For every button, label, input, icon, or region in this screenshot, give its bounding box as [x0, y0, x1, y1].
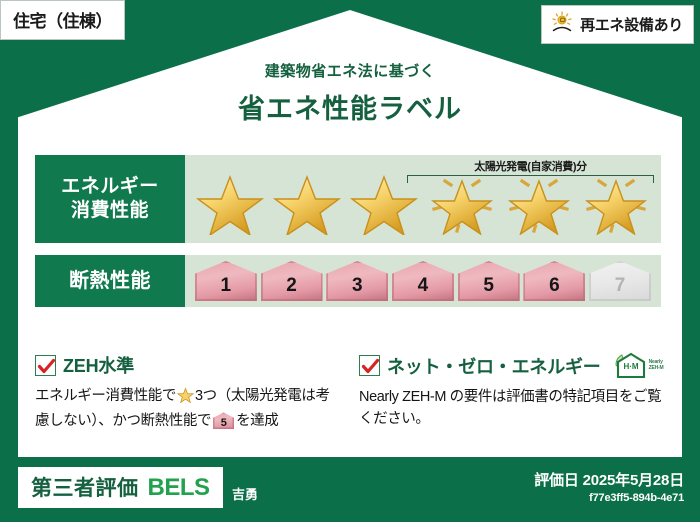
title-subtitle: 建築物省エネ法に基づく — [0, 60, 700, 81]
notes-section: ZEH水準 エネルギー消費性能で 3つ（太陽光発電は考慮しない）、かつ断熱性能で… — [35, 352, 665, 433]
zeh-note-title: ZEH水準 — [63, 352, 134, 378]
star-1 — [195, 169, 265, 235]
footer: 第三者評価 BELS 吉勇 評価日 2025年5月28日 f77e3ff5-89… — [0, 457, 700, 522]
insulation-level-2-num: 2 — [286, 276, 297, 301]
insulation-level-4-num: 4 — [418, 276, 429, 301]
energy-performance-label: 住宅（住棟） 再エネ設備あり 建築物省エネ法に基づく — [0, 0, 700, 522]
insulation-level-6: 6 — [523, 261, 585, 301]
zeh-checkbox-checked-icon — [35, 355, 56, 376]
renewable-badge-label: 再エネ設備あり — [580, 14, 683, 35]
insulation-level-7: 7 — [589, 261, 651, 301]
star-2 — [272, 169, 342, 235]
energy-label-line2: 消費性能 — [71, 199, 149, 223]
insulation-level-6-num: 6 — [549, 276, 560, 301]
bels-jp-label: 第三者評価 — [31, 472, 139, 502]
zeh-m-house-icon: H·M — [613, 352, 647, 379]
zeh-note-header: ZEH水準 — [35, 352, 341, 378]
energy-row-label: エネルギー 消費性能 — [35, 155, 185, 243]
zeh-note-body: エネルギー消費性能で 3つ（太陽光発電は考慮しない）、かつ断熱性能で 5を達成 — [35, 385, 341, 433]
zeh-m-logo-caption: Nearly ZEH-M — [649, 360, 664, 372]
net-zero-note: ネット・ゼロ・エネルギー H·M Nearly ZEH-M Nearly ZEH… — [359, 352, 665, 433]
page-title: 省エネ性能ラベル — [0, 87, 700, 126]
inline-house-level-num: 5 — [213, 418, 234, 429]
net-zero-note-body: Nearly ZEH-M の要件は評価書の特記項目をご覧ください。 — [359, 386, 665, 431]
insulation-level-group: 1 2 3 4 5 — [185, 261, 661, 301]
insulation-row-values: 1 2 3 4 5 — [185, 255, 661, 307]
insulation-performance-row: 断熱性能 1 2 3 — [35, 255, 661, 307]
building-type-tag: 住宅（住棟） — [0, 0, 125, 40]
insulation-level-3: 3 — [326, 261, 388, 301]
zeh-star-count: 3つ — [195, 388, 217, 404]
evaluation-date: 評価日 2025年5月28日 — [534, 469, 684, 490]
energy-row-values: 太陽光発電(自家消費)分 — [185, 155, 661, 243]
evaluation-id: f77e3ff5-894b-4e71 — [534, 492, 684, 504]
insulation-level-5: 5 — [458, 261, 520, 301]
insulation-level-2: 2 — [261, 261, 323, 301]
insulation-level-1-num: 1 — [221, 276, 232, 301]
net-zero-note-title: ネット・ゼロ・エネルギー — [387, 353, 601, 379]
zeh-m-caption-line2: ZEH-M — [649, 366, 664, 372]
evaluator-name: 吉勇 — [232, 484, 258, 503]
star-3 — [349, 169, 419, 235]
star-rating-group — [185, 169, 661, 235]
bels-certification-box: 第三者評価 BELS — [18, 467, 223, 508]
footer-meta: 評価日 2025年5月28日 f77e3ff5-894b-4e71 — [534, 469, 684, 504]
net-zero-note-header: ネット・ゼロ・エネルギー H·M Nearly ZEH-M — [359, 352, 665, 379]
energy-performance-row: エネルギー 消費性能 太陽光発電(自家消費)分 — [35, 155, 661, 243]
energy-label-line1: エネルギー — [61, 175, 159, 199]
star-4-solar — [427, 169, 497, 235]
svg-text:H·M: H·M — [623, 362, 638, 371]
inline-star-icon — [177, 386, 194, 410]
net-zero-checkbox-checked-icon — [359, 355, 380, 376]
insulation-level-7-num: 7 — [615, 276, 626, 301]
zeh-text-part3: を達成 — [236, 413, 278, 429]
bels-logo-text: BELS — [148, 474, 210, 502]
title-block: 建築物省エネ法に基づく 省エネ性能ラベル — [0, 60, 700, 126]
insulation-level-5-num: 5 — [483, 276, 494, 301]
renewable-equipment-badge: 再エネ設備あり — [541, 5, 694, 44]
insulation-row-label: 断熱性能 — [35, 255, 185, 307]
star-6-solar — [581, 169, 651, 235]
ratings-section: エネルギー 消費性能 太陽光発電(自家消費)分 — [35, 155, 661, 319]
zeh-note: ZEH水準 エネルギー消費性能で 3つ（太陽光発電は考慮しない）、かつ断熱性能で… — [35, 352, 341, 433]
sun-energy-icon — [550, 11, 574, 38]
zeh-text-part1: エネルギー消費性能で — [35, 388, 176, 404]
insulation-level-1: 1 — [195, 261, 257, 301]
insulation-level-4: 4 — [392, 261, 454, 301]
star-5-solar — [504, 169, 574, 235]
inline-house-level-icon: 5 — [213, 412, 234, 429]
zeh-m-logo: H·M Nearly ZEH-M — [613, 352, 664, 379]
insulation-level-3-num: 3 — [352, 276, 363, 301]
